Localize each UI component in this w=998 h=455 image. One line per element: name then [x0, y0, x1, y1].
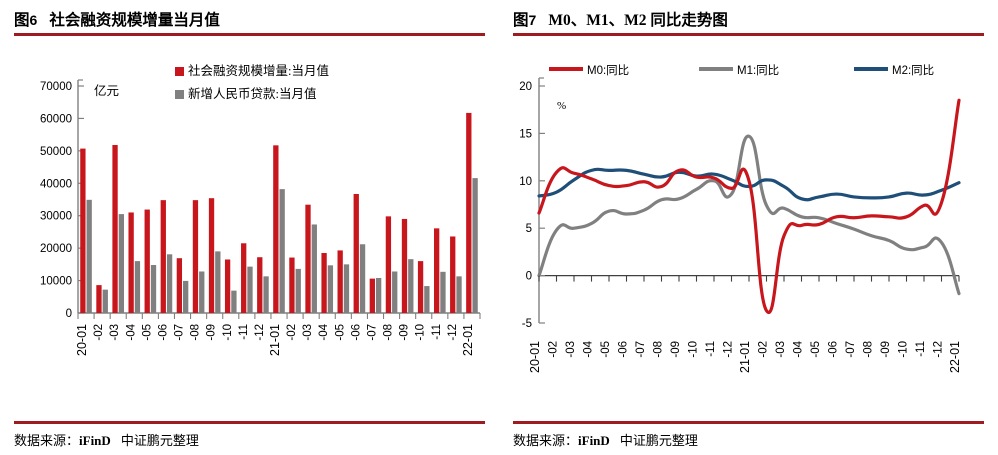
bar-rmb-loans	[87, 200, 92, 313]
bar-rmb-loans	[376, 278, 381, 313]
x-axis-tick-label: -10	[688, 341, 700, 358]
x-axis-tick-label: 21-01	[268, 324, 282, 356]
bar-social-financing	[96, 285, 101, 313]
x-axis-tick-label: -08	[653, 341, 665, 358]
y-axis-tick-label: 40000	[40, 178, 72, 190]
figure-6-bottom-rule	[14, 421, 485, 424]
x-axis-tick-label: -06	[350, 324, 362, 341]
bar-rmb-loans	[119, 214, 124, 313]
y-axis-tick-label: -5	[522, 318, 532, 330]
bar-rmb-loans	[199, 271, 204, 313]
x-axis-tick-label: -02	[286, 324, 298, 341]
bar-rmb-loans	[103, 290, 108, 313]
bar-social-financing	[386, 216, 391, 313]
bar-rmb-loans	[296, 269, 301, 313]
bar-social-financing	[289, 258, 294, 313]
bar-rmb-loans	[440, 272, 445, 313]
legend-line-blue	[854, 67, 888, 71]
bar-social-financing	[225, 259, 230, 313]
legend-item-m1: M1:同比	[699, 62, 779, 78]
x-axis-tick-label: -09	[670, 341, 682, 358]
source-value-right: iFinD	[578, 433, 610, 448]
figure-6-title: 图6社会融资规模增量当月值	[14, 8, 220, 30]
figure-7-title: 图7M0、M1、M2 同比走势图	[513, 8, 728, 30]
bar-social-financing	[145, 210, 150, 313]
figure-6-source: 数据来源：iFinD中证鹏元整理	[14, 430, 199, 449]
y-axis-tick-label: 60000	[40, 113, 72, 125]
figure-6-number: 6	[30, 12, 38, 28]
source-org-right: 中证鹏元整理	[620, 433, 698, 448]
bar-social-financing	[466, 113, 471, 313]
figure-7-title-prefix: 图	[513, 12, 529, 29]
bar-social-financing	[354, 194, 359, 313]
source-label-left: 数据来源：	[14, 433, 79, 448]
bar-social-financing	[209, 198, 214, 313]
figure-7-top-rule	[513, 33, 984, 36]
source-label-right: 数据来源：	[513, 433, 578, 448]
x-axis-tick-label: -04	[125, 323, 137, 340]
bar-rmb-loans	[247, 267, 252, 313]
x-axis-tick-label: -05	[810, 341, 822, 358]
bar-rmb-loans	[167, 254, 172, 313]
x-axis-tick-label: -08	[383, 324, 395, 341]
bar-rmb-loans	[312, 224, 317, 313]
x-axis-tick-label: 20-01	[75, 324, 89, 356]
x-axis-tick-label: -10	[415, 324, 427, 341]
bar-rmb-loans	[151, 265, 156, 313]
bar-rmb-loans	[472, 178, 477, 313]
legend-item-rmb-loans: 新增人民币贷款:当月值	[175, 83, 316, 102]
x-axis-tick-label: -06	[618, 341, 630, 358]
source-value-left: iFinD	[79, 433, 111, 448]
legend-swatch-red	[175, 67, 184, 76]
x-axis-tick-label: 21-01	[738, 341, 752, 373]
figure-6-chart: 社会融资规模增量:当月值 新增人民币贷款:当月值 亿元 010000200003…	[0, 38, 499, 418]
x-axis-tick-label: -04	[318, 323, 330, 340]
x-axis-tick-label: -11	[431, 324, 443, 340]
figure-6-title-text: 社会融资规模增量当月值	[49, 12, 220, 29]
x-axis-tick-label: -06	[828, 341, 840, 358]
x-axis-tick-label: -03	[565, 341, 577, 358]
x-axis-tick-label: -06	[157, 324, 169, 341]
x-axis-tick-label: 20-01	[528, 341, 542, 373]
legend-item-social-financing: 社会融资规模增量:当月值	[175, 60, 329, 79]
bar-rmb-loans	[215, 251, 220, 313]
bar-social-financing	[370, 279, 375, 313]
x-axis-tick-label: -08	[190, 324, 202, 341]
legend-line-red	[549, 67, 583, 71]
line-m1	[539, 136, 959, 293]
bar-social-financing	[112, 145, 117, 313]
bar-social-financing	[418, 261, 423, 313]
x-axis-tick-label: -12	[254, 324, 266, 341]
x-axis-tick-label: -02	[548, 341, 560, 358]
y-axis-tick-label: 10	[519, 176, 532, 188]
bar-rmb-loans	[280, 189, 285, 313]
figure-page: 图6社会融资规模增量当月值 社会融资规模增量:当月值 新增人民币贷款:当月值 亿…	[0, 0, 998, 455]
x-axis-tick-label: -11	[915, 341, 927, 357]
bar-rmb-loans	[424, 286, 429, 313]
x-axis-tick-label: -05	[334, 324, 346, 341]
x-axis-tick-label: -11	[705, 341, 717, 357]
x-axis-tick-label: -02	[93, 324, 105, 341]
bar-social-financing	[321, 253, 326, 313]
line-chart-svg: -50510152020-01-02-03-04-05-06-07-08-09-…	[499, 38, 998, 418]
legend-label-m1: M1:同比	[737, 65, 779, 77]
x-axis-tick-label: -10	[898, 341, 910, 358]
y-axis-tick-label: 30000	[40, 211, 72, 223]
x-axis-tick-label: -07	[366, 324, 378, 341]
bar-social-financing	[177, 258, 182, 313]
y-axis-tick-label: 5	[526, 223, 532, 235]
y-axis-tick-label: 50000	[40, 146, 72, 158]
x-axis-tick-label: -05	[141, 324, 153, 341]
x-axis-tick-label: -12	[933, 341, 945, 358]
x-axis-tick-label: 22-01	[948, 341, 962, 373]
figure-7-source: 数据来源：iFinD中证鹏元整理	[513, 430, 698, 449]
legend-label-rmb-loans: 新增人民币贷款:当月值	[188, 87, 316, 101]
bar-social-financing	[193, 200, 198, 313]
x-axis-tick-label: -10	[222, 324, 234, 341]
x-axis-tick-label: -07	[845, 341, 857, 358]
figure-7-panel: 图7M0、M1、M2 同比走势图 M0:同比 M1:同比 M2:同比 % -50…	[499, 0, 998, 455]
bar-social-financing	[257, 257, 262, 313]
bar-rmb-loans	[231, 291, 236, 313]
figure-7-number: 7	[529, 12, 537, 28]
x-axis-tick-label: -09	[206, 324, 218, 341]
legend-label-m0: M0:同比	[587, 65, 629, 77]
x-axis-tick-label: -12	[447, 324, 459, 341]
bar-social-financing	[434, 228, 439, 313]
x-axis-tick-label: -04	[793, 340, 805, 357]
y-axis-tick-label: 20	[519, 81, 532, 93]
y-axis-tick-label: 0	[66, 308, 72, 320]
bar-social-financing	[241, 243, 246, 313]
bar-social-financing	[338, 250, 343, 313]
bar-rmb-loans	[183, 281, 188, 313]
legend-swatch-gray	[175, 90, 184, 99]
legend-label-social-financing: 社会融资规模增量:当月值	[188, 64, 329, 78]
bar-social-financing	[402, 219, 407, 313]
x-axis-tick-label: -03	[109, 324, 121, 341]
bar-social-financing	[305, 205, 310, 313]
bar-social-financing	[80, 149, 85, 313]
x-axis-tick-label: -07	[174, 324, 186, 341]
figure-6-panel: 图6社会融资规模增量当月值 社会融资规模增量:当月值 新增人民币贷款:当月值 亿…	[0, 0, 499, 455]
legend-item-m0: M0:同比	[549, 62, 629, 78]
source-org-left: 中证鹏元整理	[121, 433, 199, 448]
x-axis-tick-label: -04	[583, 340, 595, 357]
y-axis-unit-right: %	[557, 100, 566, 112]
x-axis-tick-label: -08	[863, 341, 875, 358]
bar-rmb-loans	[456, 276, 461, 313]
y-axis-tick-label: 15	[519, 128, 532, 140]
y-axis-unit-left: 亿元	[94, 80, 119, 99]
y-axis-tick-label: 10000	[40, 276, 72, 288]
y-axis-tick-label: 20000	[40, 243, 72, 255]
legend-label-m2: M2:同比	[892, 65, 934, 77]
bar-rmb-loans	[360, 244, 365, 313]
legend-line-gray	[699, 67, 733, 71]
x-axis-tick-label: -03	[302, 324, 314, 341]
figure-7-title-text: M0、M1、M2 同比走势图	[548, 12, 728, 29]
bar-social-financing	[128, 212, 133, 313]
x-axis-tick-label: -11	[238, 324, 250, 340]
x-axis-tick-label: -02	[758, 341, 770, 358]
x-axis-tick-label: 22-01	[461, 324, 475, 356]
bar-rmb-loans	[328, 265, 333, 313]
x-axis-tick-label: -07	[635, 341, 647, 358]
x-axis-tick-label: -12	[723, 341, 735, 358]
legend-item-m2: M2:同比	[854, 62, 934, 78]
y-axis-tick-label: 70000	[40, 81, 72, 93]
bar-rmb-loans	[344, 264, 349, 313]
figure-6-top-rule	[14, 33, 485, 36]
bar-rmb-loans	[135, 261, 140, 313]
x-axis-tick-label: -05	[600, 341, 612, 358]
bar-rmb-loans	[263, 276, 268, 313]
bar-social-financing	[450, 236, 455, 313]
bar-rmb-loans	[408, 259, 413, 313]
x-axis-tick-label: -09	[399, 324, 411, 341]
figure-7-bottom-rule	[513, 421, 984, 424]
x-axis-tick-label: -03	[775, 341, 787, 358]
figure-7-chart: M0:同比 M1:同比 M2:同比 % -50510152020-01-02-0…	[499, 38, 998, 418]
x-axis-tick-label: -09	[880, 341, 892, 358]
bar-social-financing	[161, 200, 166, 313]
y-axis-tick-label: 0	[526, 271, 532, 283]
bar-rmb-loans	[392, 271, 397, 313]
figure-6-title-prefix: 图	[14, 12, 30, 29]
bar-social-financing	[273, 145, 278, 313]
